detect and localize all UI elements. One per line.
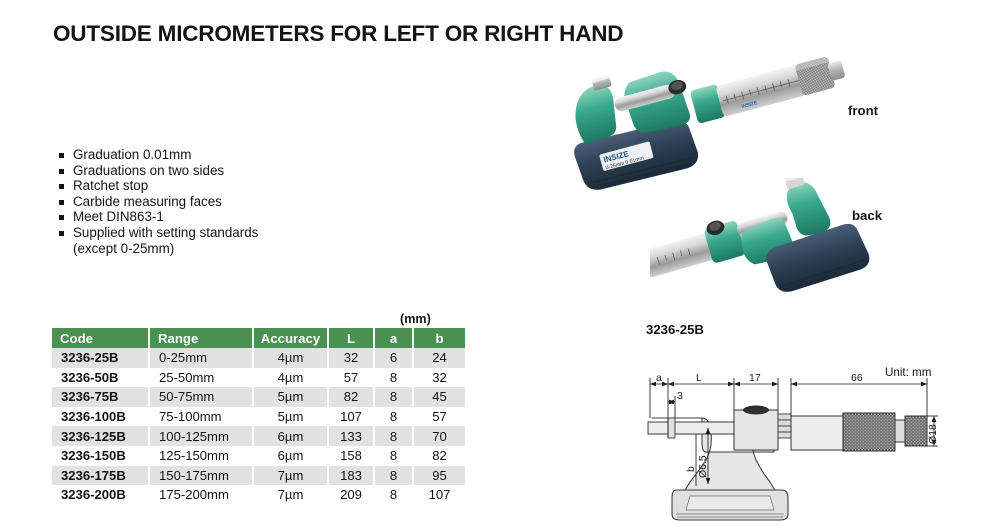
cell-range: 150-175mm <box>149 466 253 486</box>
column-header-range: Range <box>149 328 253 348</box>
cell-range: 50-75mm <box>149 387 253 407</box>
cell-l: 32 <box>328 348 374 368</box>
column-header-code: Code <box>52 328 149 348</box>
list-item: Graduation 0.01mm <box>58 147 258 163</box>
cell-a: 6 <box>374 348 413 368</box>
cell-l: 209 <box>328 485 374 505</box>
table-unit-note: (mm) <box>400 312 431 326</box>
cell-accuracy: 4µm <box>253 348 328 368</box>
cell-b: 107 <box>413 485 465 505</box>
cell-a: 8 <box>374 426 413 446</box>
cell-range: 125-150mm <box>149 446 253 466</box>
table-row: 3236-150B 125-150mm 6µm 158 8 82 <box>52 446 465 466</box>
cell-b: 95 <box>413 466 465 486</box>
table-row: 3236-50B 25-50mm 4µm 57 8 32 <box>52 368 465 388</box>
cell-a: 8 <box>374 387 413 407</box>
product-photo-front: INSIZE 0-25mm 0.01mm INSIZE <box>548 52 848 192</box>
table-row: 3236-175B 150-175mm 7µm 183 8 95 <box>52 466 465 486</box>
dim-label-66: 66 <box>851 372 863 384</box>
cell-b: 82 <box>413 446 465 466</box>
cell-code: 3236-150B <box>52 446 149 466</box>
column-header-b: b <box>413 328 465 348</box>
spec-table: Code Range Accuracy L a b 3236-25B 0-25m… <box>52 328 465 505</box>
column-header-a: a <box>374 328 413 348</box>
spec-table-wrapper: Code Range Accuracy L a b 3236-25B 0-25m… <box>52 328 439 505</box>
cell-b: 70 <box>413 426 465 446</box>
list-item: Carbide measuring faces <box>58 194 258 210</box>
cell-accuracy: 5µm <box>253 407 328 427</box>
cell-l: 82 <box>328 387 374 407</box>
cell-a: 8 <box>374 407 413 427</box>
dim-label-a: a <box>656 372 662 384</box>
dimension-drawing: a 3 L 17 66 b Ø6.5 Ø18 <box>646 360 984 526</box>
cell-code: 3236-50B <box>52 368 149 388</box>
column-header-l: L <box>328 328 374 348</box>
cell-a: 8 <box>374 466 413 486</box>
page-title: OUTSIDE MICROMETERS FOR LEFT OR RIGHT HA… <box>53 21 623 47</box>
list-item: Ratchet stop <box>58 178 258 194</box>
dim-label-diameter-spindle: Ø18 <box>927 424 939 444</box>
cell-accuracy: 7µm <box>253 485 328 505</box>
cell-l: 133 <box>328 426 374 446</box>
cell-accuracy: 7µm <box>253 466 328 486</box>
cell-a: 8 <box>374 368 413 388</box>
feature-list: Graduation 0.01mm Graduations on two sid… <box>58 147 258 256</box>
cell-b: 45 <box>413 387 465 407</box>
cell-accuracy: 6µm <box>253 446 328 466</box>
dim-label-L: L <box>696 372 702 384</box>
product-photo-back <box>650 178 870 298</box>
table-row: 3236-200B 175-200mm 7µm 209 8 107 <box>52 485 465 505</box>
cell-range: 25-50mm <box>149 368 253 388</box>
table-header-row: Code Range Accuracy L a b <box>52 328 465 348</box>
cell-code: 3236-175B <box>52 466 149 486</box>
dim-label-17: 17 <box>749 372 761 384</box>
column-header-accuracy: Accuracy <box>253 328 328 348</box>
list-item: Supplied with setting standards (except … <box>58 225 258 256</box>
cell-a: 8 <box>374 485 413 505</box>
cell-accuracy: 6µm <box>253 426 328 446</box>
dim-label-diameter-anvil: Ø6.5 <box>697 455 709 478</box>
cell-l: 183 <box>328 466 374 486</box>
cell-code: 3236-100B <box>52 407 149 427</box>
dim-label-b: b <box>685 466 697 472</box>
cell-l: 107 <box>328 407 374 427</box>
cell-code: 3236-125B <box>52 426 149 446</box>
table-row: 3236-75B 50-75mm 5µm 82 8 45 <box>52 387 465 407</box>
cell-a: 8 <box>374 446 413 466</box>
cell-code: 3236-75B <box>52 387 149 407</box>
cell-range: 75-100mm <box>149 407 253 427</box>
table-row: 3236-100B 75-100mm 5µm 107 8 57 <box>52 407 465 427</box>
cell-b: 24 <box>413 348 465 368</box>
cell-l: 158 <box>328 446 374 466</box>
cell-range: 0-25mm <box>149 348 253 368</box>
table-row: 3236-25B 0-25mm 4µm 32 6 24 <box>52 348 465 368</box>
cell-range: 175-200mm <box>149 485 253 505</box>
cell-range: 100-125mm <box>149 426 253 446</box>
cell-b: 32 <box>413 368 465 388</box>
back-view-label: back <box>852 208 882 223</box>
cell-accuracy: 5µm <box>253 387 328 407</box>
list-item: Meet DIN863-1 <box>58 209 258 225</box>
cell-l: 57 <box>328 368 374 388</box>
list-item: Graduations on two sides <box>58 163 258 179</box>
cell-code: 3236-25B <box>52 348 149 368</box>
table-row: 3236-125B 100-125mm 6µm 133 8 70 <box>52 426 465 446</box>
model-caption: 3236-25B <box>646 322 704 337</box>
front-view-label: front <box>848 103 878 118</box>
cell-b: 57 <box>413 407 465 427</box>
cell-accuracy: 4µm <box>253 368 328 388</box>
dim-label-3: 3 <box>677 390 683 402</box>
cell-code: 3236-200B <box>52 485 149 505</box>
